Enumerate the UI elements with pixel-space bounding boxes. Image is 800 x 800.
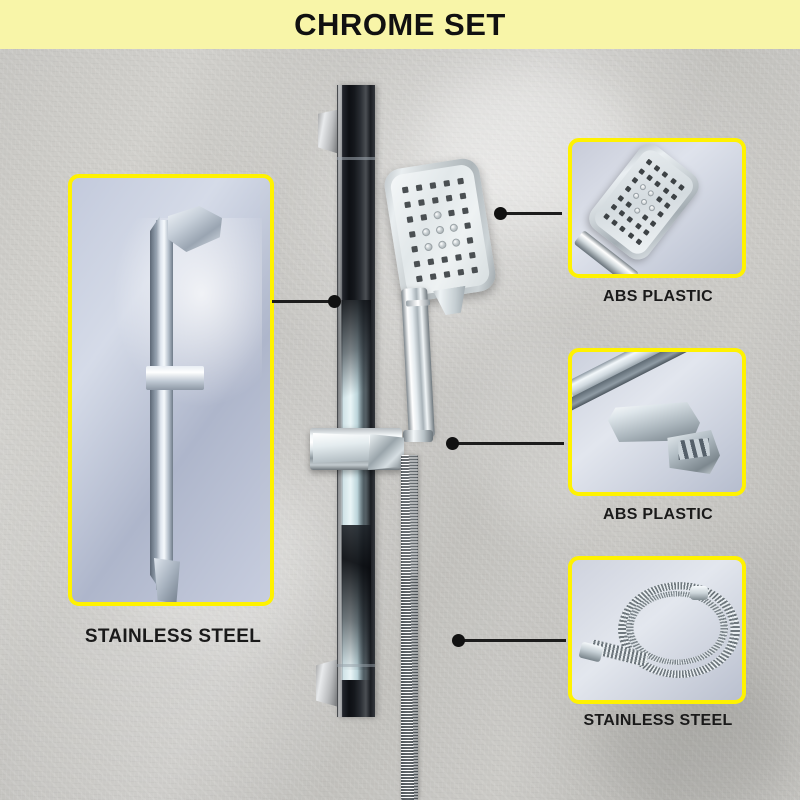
pointer-line-hand-shower xyxy=(500,212,562,215)
rail-edge-highlight xyxy=(338,85,342,717)
pointer-line-rail-bracket xyxy=(452,442,564,445)
shower-head-handle-connector xyxy=(403,430,433,442)
slide-rail-bottom-foot xyxy=(154,558,180,604)
pointer-dot-slide-rail xyxy=(328,295,341,308)
caption-shower-hose: STAINLESS STEEL xyxy=(560,712,756,730)
rail-reflection-lower-dark xyxy=(341,525,371,670)
rail-bracket-icon xyxy=(572,352,742,492)
callout-box-slide-rail[interactable] xyxy=(68,174,274,606)
slide-rail-tube xyxy=(156,220,173,590)
hose-end-fitting xyxy=(690,586,708,600)
hand-shower-faceplate xyxy=(591,146,698,258)
header-banner: CHROME SET xyxy=(0,0,800,49)
shower-head-handle-band xyxy=(406,299,430,306)
shower-nozzle-grid xyxy=(397,173,482,287)
rail-reflection-upper-dark xyxy=(341,300,371,420)
hand-shower-head-icon xyxy=(572,142,742,274)
rail-seam-upper xyxy=(337,157,375,160)
hand-shower-nozzle-grid xyxy=(599,154,689,249)
callout-box-rail-bracket[interactable] xyxy=(568,348,746,496)
pointer-dot-hand-shower xyxy=(494,207,507,220)
coiled-hose-icon xyxy=(572,560,742,700)
page-title: CHROME SET xyxy=(294,7,506,43)
caption-hand-shower: ABS PLASTIC xyxy=(560,288,756,306)
rail-slider-holder-arm xyxy=(368,434,404,470)
shower-head-handle xyxy=(401,287,435,438)
slide-rail-icon xyxy=(72,178,270,602)
pointer-dot-rail-bracket xyxy=(446,437,459,450)
flexible-shower-hose-upper xyxy=(402,455,417,575)
pointer-line-shower-hose xyxy=(458,639,566,642)
hand-shower-head xyxy=(382,156,498,303)
pointer-dot-shower-hose xyxy=(452,634,465,647)
rail-seam-lower xyxy=(337,664,375,667)
infographic-stage: CHROME SET xyxy=(0,0,800,800)
callout-box-shower-hose[interactable] xyxy=(568,556,746,704)
pointer-line-slide-rail xyxy=(272,300,334,303)
slide-rail-slider-block xyxy=(146,366,204,390)
callout-box-hand-shower[interactable] xyxy=(568,138,746,278)
caption-slide-rail: STAINLESS STEEL xyxy=(48,626,298,648)
caption-rail-bracket: ABS PLASTIC xyxy=(560,506,756,524)
rail-slider-holder-face xyxy=(313,433,369,463)
